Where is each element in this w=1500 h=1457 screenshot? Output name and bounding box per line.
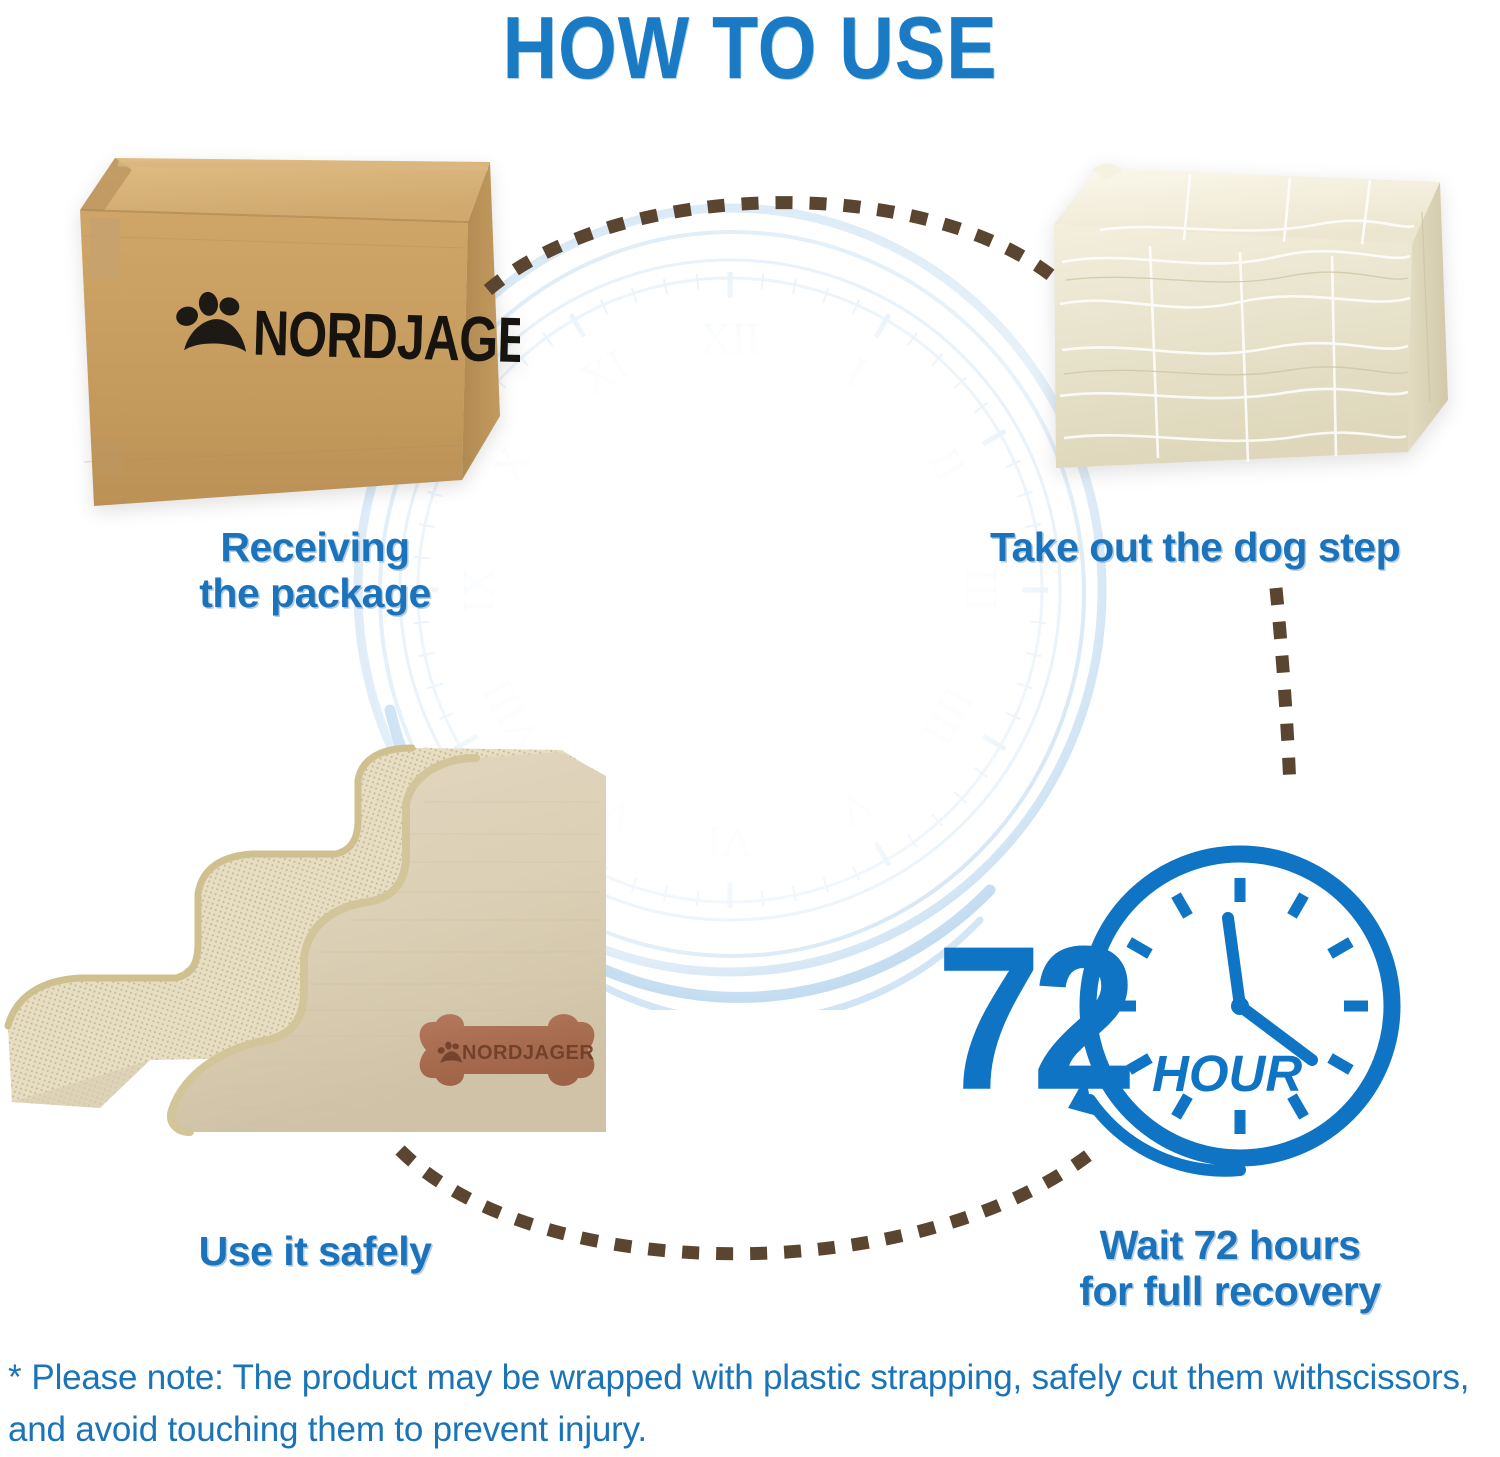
svg-text:I: I xyxy=(837,347,874,397)
clock-hours-unit: HOUR xyxy=(1152,1044,1302,1103)
svg-text:IIII: IIII xyxy=(912,678,984,753)
footnote-text: Please note: The product may be wrapped … xyxy=(8,1358,1469,1449)
svg-text:II: II xyxy=(919,439,976,489)
bone-tag-label: NORDJAGER xyxy=(462,1042,594,1064)
clock-72-hour-icon: 72 HOUR xyxy=(940,808,1430,1208)
clock-hours-number: 72 xyxy=(936,916,1127,1121)
step-label-wait-72-hours: Wait 72 hours for full recovery xyxy=(1015,1222,1445,1314)
svg-text:VI: VI xyxy=(707,817,753,866)
page-title: HOW TO USE xyxy=(105,0,1395,100)
svg-text:XII: XII xyxy=(699,314,760,363)
connector-right-line xyxy=(1230,580,1360,800)
step-label-take-out: Take out the dog step xyxy=(990,524,1500,570)
plastic-wrapped-block-icon xyxy=(1040,152,1460,497)
connector-top-arc xyxy=(480,180,1060,310)
svg-text:NORDJAGER: NORDJAGER xyxy=(252,298,520,378)
infographic-canvas: HOW TO USE xyxy=(0,0,1500,1457)
svg-text:III: III xyxy=(957,568,1006,612)
dog-step-stairs-icon: NORDJAGER xyxy=(0,728,650,1168)
cardboard-box-icon: NORDJAGER xyxy=(60,140,520,530)
step-label-receiving: Receiving the package xyxy=(55,524,575,616)
svg-text:XI: XI xyxy=(572,339,637,405)
footnote: *Please note: The product may be wrapped… xyxy=(8,1352,1478,1456)
svg-text:V: V xyxy=(830,779,882,837)
step-label-use-safely: Use it safely xyxy=(55,1228,575,1274)
footnote-asterisk: * xyxy=(8,1358,21,1397)
